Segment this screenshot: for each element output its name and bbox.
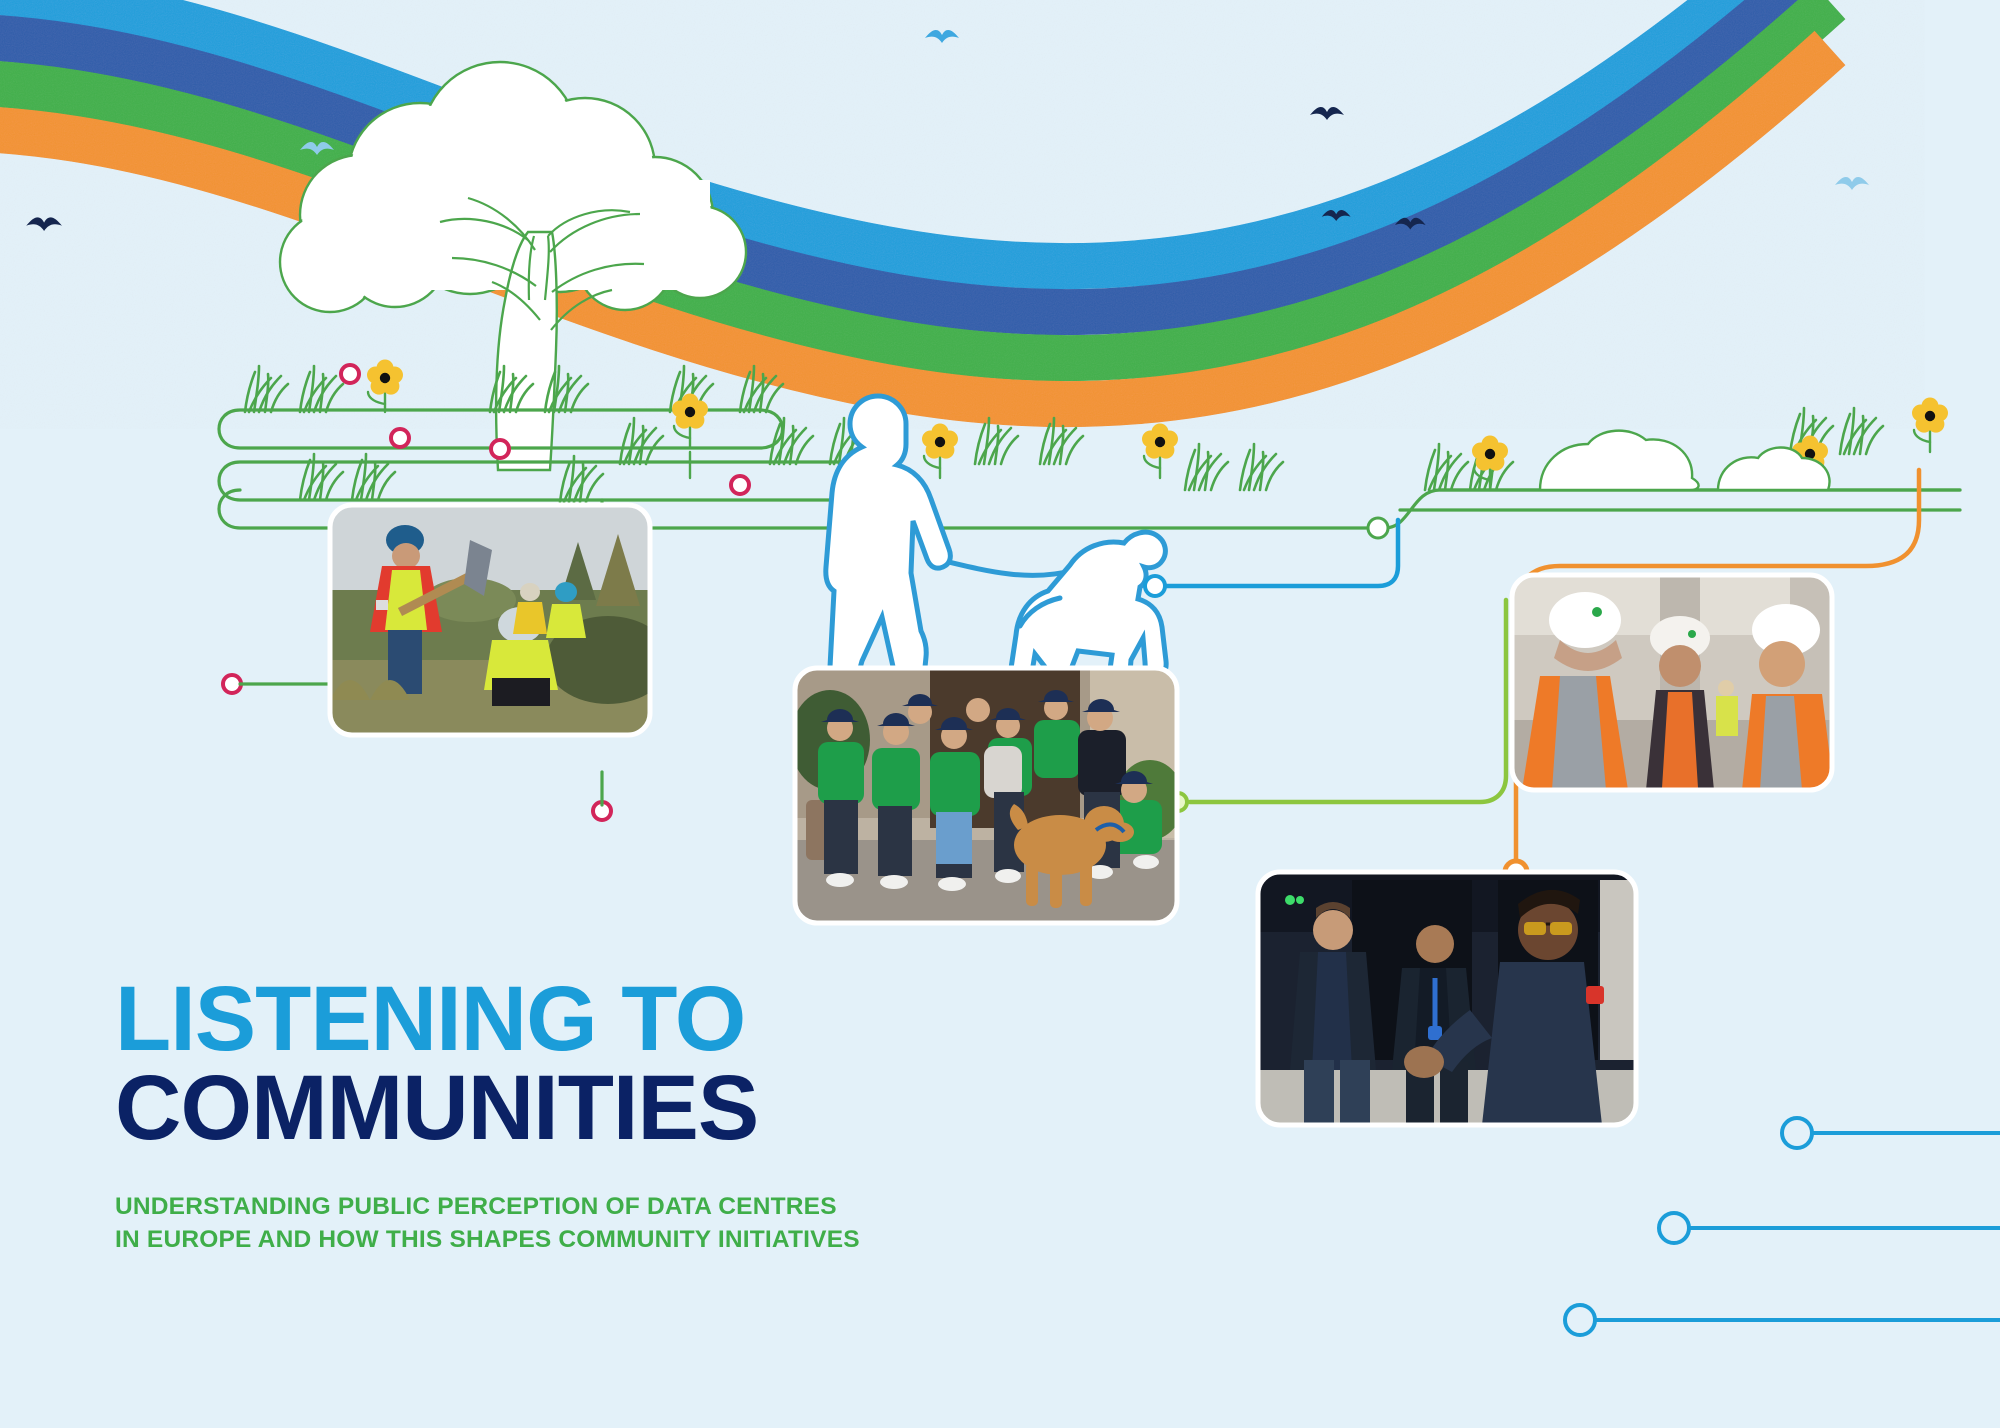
pink-node-2 xyxy=(391,429,409,447)
pink-node-4 xyxy=(731,476,749,494)
connector-blue-endpoint xyxy=(1145,576,1165,596)
green-junction-node xyxy=(1368,518,1388,538)
photo-data-centre-staff[interactable] xyxy=(1258,872,1636,1125)
title-block: LISTENING TO COMMUNITIES UNDERSTANDING P… xyxy=(115,975,1015,1257)
page-title-line-2: COMMUNITIES xyxy=(115,1063,1015,1153)
pink-node-3 xyxy=(491,440,509,458)
page-subtitle-line-1: UNDERSTANDING PUBLIC PERCEPTION OF DATA … xyxy=(115,1191,1015,1224)
photo-construction-workers[interactable] xyxy=(1512,575,1834,790)
page-subtitle-line-2: IN EUROPE AND HOW THIS SHAPES COMMUNITY … xyxy=(115,1224,1015,1257)
pink-node-7 xyxy=(223,675,241,693)
page-subtitle: UNDERSTANDING PUBLIC PERCEPTION OF DATA … xyxy=(115,1191,1015,1256)
photo-tree-planting[interactable] xyxy=(330,505,670,735)
pink-node-1 xyxy=(341,365,359,383)
page-title-line-1: LISTENING TO xyxy=(115,975,1015,1063)
photo-volunteer-group[interactable] xyxy=(790,668,1184,923)
